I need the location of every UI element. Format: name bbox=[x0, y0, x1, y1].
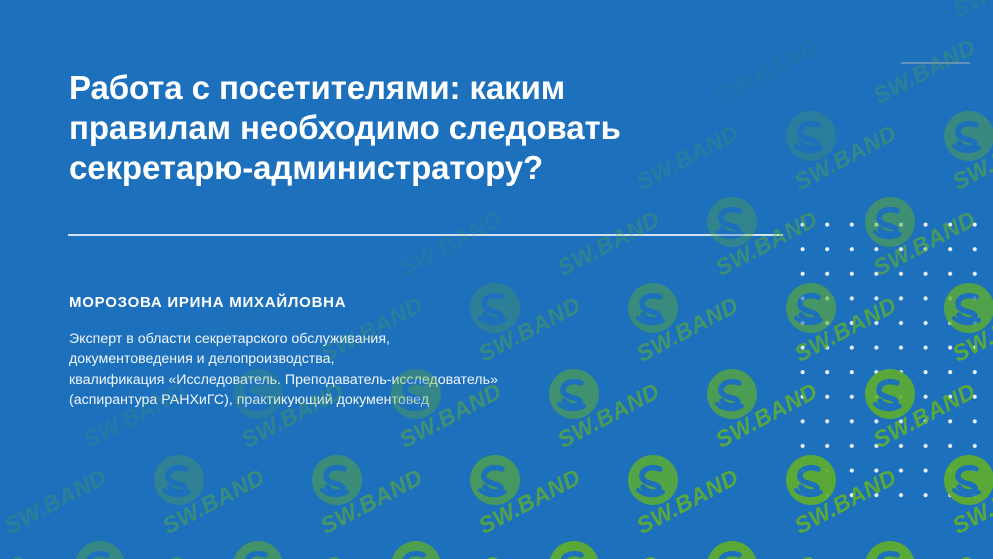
watermark-text: SW.BAND bbox=[711, 550, 822, 559]
watermark-logo-icon bbox=[311, 454, 363, 506]
watermark-text: SW.BAND bbox=[0, 464, 111, 540]
watermark-text: SW.BAND bbox=[553, 206, 664, 282]
page-title: Работа с посетителями: каким правилам не… bbox=[69, 68, 709, 188]
watermark-text: SW.BAND bbox=[632, 464, 743, 540]
presentation-slide: Работа с посетителями: каким правилам не… bbox=[0, 0, 993, 559]
watermark-logo-icon bbox=[785, 454, 837, 506]
watermark-logo-icon bbox=[785, 282, 837, 334]
watermark-text: SW.BAND bbox=[869, 34, 980, 110]
watermark-text: SW.BAND bbox=[395, 206, 506, 282]
watermark-text: SW.BAND bbox=[711, 206, 822, 282]
watermark-text: SW.BAND bbox=[869, 378, 980, 454]
speaker-name: МОРОЗОВА ИРИНА МИХАЙЛОВНА bbox=[69, 294, 346, 311]
watermark-logo-icon bbox=[864, 540, 916, 559]
watermark-text: SW.BAND bbox=[948, 0, 993, 24]
watermark-logo-icon bbox=[390, 540, 442, 559]
watermark-logo-icon bbox=[943, 282, 993, 334]
watermark-text: SW.BAND bbox=[158, 464, 269, 540]
watermark-logo-icon bbox=[469, 282, 521, 334]
watermark-text: SW.BAND bbox=[711, 34, 822, 110]
watermark-text: SW.BAND bbox=[948, 292, 993, 368]
watermark-text: SW.BAND bbox=[869, 206, 980, 282]
watermark-text: SW.BAND bbox=[316, 464, 427, 540]
watermark-logo-icon bbox=[706, 540, 758, 559]
watermark-logo-icon bbox=[785, 110, 837, 162]
watermark-text: SW.BAND bbox=[948, 464, 993, 540]
watermark-text: SW.BAND bbox=[553, 550, 664, 559]
watermark-logo-icon bbox=[706, 196, 758, 248]
watermark-text: SW.BAND bbox=[237, 550, 348, 559]
corner-rule-decoration bbox=[901, 62, 970, 64]
watermark-logo-icon bbox=[548, 540, 600, 559]
watermark-text: SW.BAND bbox=[474, 464, 585, 540]
watermark-text: SW.BAND bbox=[869, 550, 980, 559]
watermark-text: SW.BAND bbox=[395, 550, 506, 559]
watermark-logo-icon bbox=[627, 454, 679, 506]
dot-grid-decoration bbox=[800, 222, 993, 507]
watermark-logo-icon bbox=[232, 540, 284, 559]
watermark-logo-icon bbox=[864, 368, 916, 420]
watermark-logo-icon bbox=[943, 454, 993, 506]
watermark-logo-icon bbox=[864, 196, 916, 248]
watermark-text: SW.BAND bbox=[711, 378, 822, 454]
watermark-text: SW.BAND bbox=[948, 120, 993, 196]
watermark-logo-icon bbox=[627, 282, 679, 334]
watermark-text: SW.BAND bbox=[79, 550, 190, 559]
watermark-logo-icon bbox=[74, 540, 126, 559]
watermark-logo-icon bbox=[153, 454, 205, 506]
watermark-text: SW.BAND bbox=[790, 120, 901, 196]
speaker-bio: Эксперт в области секретарского обслужив… bbox=[69, 329, 689, 410]
watermark-logo-icon bbox=[943, 110, 993, 162]
title-divider bbox=[68, 234, 783, 236]
watermark-text: SW.BAND bbox=[790, 464, 901, 540]
watermark-logo-icon bbox=[469, 454, 521, 506]
watermark-text: SW.BAND bbox=[790, 292, 901, 368]
watermark-text: SW.BAND bbox=[0, 550, 32, 559]
watermark-logo-icon bbox=[706, 368, 758, 420]
